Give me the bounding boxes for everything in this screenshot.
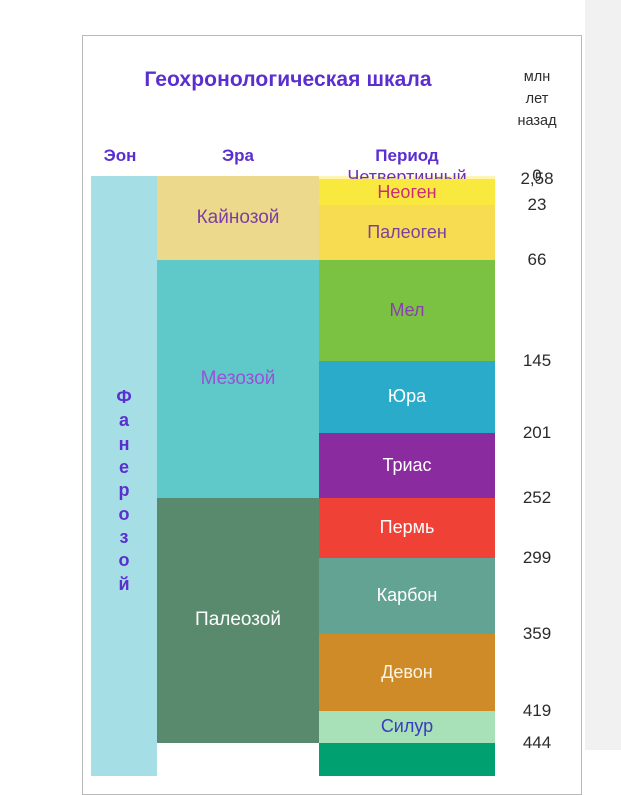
eon-column: Фанерозой bbox=[91, 176, 157, 776]
eon-label-phanerozoic: Фанерозой bbox=[116, 386, 131, 597]
eon-label-letter: з bbox=[120, 526, 129, 549]
age-boundary-label: 2,58 bbox=[495, 169, 579, 189]
age-boundary-label: 66 bbox=[495, 250, 579, 270]
age-units-line-1: млн bbox=[495, 66, 579, 88]
period-cell[interactable]: Пермь bbox=[319, 498, 495, 558]
eon-label-letter: й bbox=[118, 573, 129, 596]
age-boundary-label: 23 bbox=[495, 195, 579, 215]
eon-label-letter: Ф bbox=[116, 386, 131, 409]
age-boundary-label: 252 bbox=[495, 488, 579, 508]
age-units-header: млн лет назад bbox=[495, 66, 579, 132]
eon-label-letter: о bbox=[119, 503, 130, 526]
period-cell[interactable]: Мел bbox=[319, 260, 495, 361]
eon-label-letter: р bbox=[119, 479, 130, 502]
column-header-era: Эра bbox=[157, 146, 319, 166]
period-cell[interactable]: Триас bbox=[319, 433, 495, 498]
eon-label-letter: а bbox=[119, 409, 129, 432]
page-title: Геохронологическая шкала bbox=[83, 68, 493, 92]
column-header-period: Период bbox=[319, 146, 495, 166]
period-cell[interactable]: Неоген bbox=[319, 179, 495, 205]
period-cell[interactable]: Силур bbox=[319, 711, 495, 743]
era-cell[interactable]: Кайнозой bbox=[157, 176, 319, 260]
period-column: ЧетвертичныйНеогенПалеогенМелЮраТриасПер… bbox=[319, 176, 495, 776]
age-scale-column: 02,582366145201252299359419444 bbox=[495, 176, 579, 776]
age-boundary-label: 359 bbox=[495, 624, 579, 644]
age-boundary-label: 299 bbox=[495, 548, 579, 568]
period-cell[interactable] bbox=[319, 743, 495, 776]
period-cell[interactable]: Юра bbox=[319, 361, 495, 432]
geochronology-card: Геохронологическая шкала млн лет назад Э… bbox=[82, 35, 582, 795]
age-units-line-2: лет bbox=[495, 88, 579, 110]
column-header-eon: Эон bbox=[83, 146, 157, 166]
period-cell[interactable]: Карбон bbox=[319, 558, 495, 635]
scrollbar-gutter[interactable] bbox=[585, 0, 621, 750]
era-cell[interactable]: Палеозой bbox=[157, 498, 319, 743]
period-cell[interactable]: Девон bbox=[319, 634, 495, 711]
era-cell[interactable]: Мезозой bbox=[157, 260, 319, 497]
eon-label-letter: о bbox=[119, 549, 130, 572]
timescale-table: Фанерозой КайнозойМезозойПалеозой Четвер… bbox=[91, 176, 495, 776]
eon-label-letter: н bbox=[119, 433, 130, 456]
age-boundary-label: 145 bbox=[495, 351, 579, 371]
period-cell[interactable]: Палеоген bbox=[319, 205, 495, 260]
eon-label-letter: е bbox=[119, 456, 129, 479]
era-column: КайнозойМезозойПалеозой bbox=[157, 176, 319, 776]
age-boundary-label: 201 bbox=[495, 423, 579, 443]
age-boundary-label: 419 bbox=[495, 701, 579, 721]
age-units-line-3: назад bbox=[495, 110, 579, 132]
